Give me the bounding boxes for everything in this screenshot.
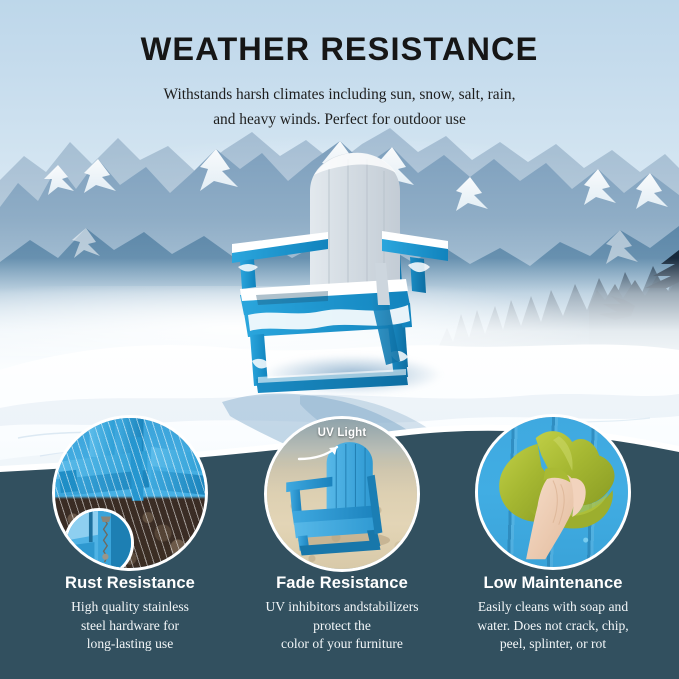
feature-image-rust-resistance[interactable]: [52, 415, 208, 571]
page-subtitle: Withstands harsh climates including sun,…: [0, 82, 679, 132]
subtitle-line-2: and heavy winds. Perfect for outdoor use: [0, 107, 679, 132]
feature-title-low-maintenance: Low Maintenance: [453, 574, 653, 593]
infographic-canvas: WEATHER RESISTANCE Withstands harsh clim…: [0, 0, 679, 679]
feature-title-rust-resistance: Rust Resistance: [30, 574, 230, 593]
stainless-screw-closeup: [67, 511, 131, 571]
hand-with-cloth-graphic: [478, 417, 628, 567]
fade-desc-line-1: UV inhibitors andstabilizers: [232, 598, 452, 617]
rust-desc-line-1: High quality stainless: [20, 598, 240, 617]
low-maint-desc-line-2: water. Does not crack, chip,: [443, 617, 663, 636]
feature-desc-rust-resistance: High quality stainless steel hardware fo…: [20, 598, 240, 654]
fade-resistance-photo: UV Light: [267, 419, 417, 569]
subtitle-line-1: Withstands harsh climates including sun,…: [0, 82, 679, 107]
rust-desc-line-3: long-lasting use: [20, 635, 240, 654]
page-title: WEATHER RESISTANCE: [0, 31, 679, 68]
low-maint-desc-line-3: peel, splinter, or rot: [443, 635, 663, 654]
uv-light-arrow-icon: [295, 439, 355, 467]
low-maintenance-photo: [478, 417, 628, 567]
low-maint-desc-line-1: Easily cleans with soap and: [443, 598, 663, 617]
rust-resistance-inset-screw[interactable]: [64, 508, 134, 571]
uv-light-annotation: UV Light: [267, 427, 417, 439]
feature-desc-fade-resistance: UV inhibitors andstabilizers protect the…: [232, 598, 452, 654]
feature-image-fade-resistance[interactable]: UV Light: [264, 416, 420, 572]
feature-desc-low-maintenance: Easily cleans with soap and water. Does …: [443, 598, 663, 654]
feature-image-low-maintenance[interactable]: [475, 414, 631, 570]
fade-desc-line-3: color of your furniture: [232, 635, 452, 654]
feature-title-fade-resistance: Fade Resistance: [242, 574, 442, 593]
rust-desc-line-2: steel hardware for: [20, 617, 240, 636]
hero-adirondack-chair: [210, 145, 460, 395]
fade-desc-line-2: protect the: [232, 617, 452, 636]
